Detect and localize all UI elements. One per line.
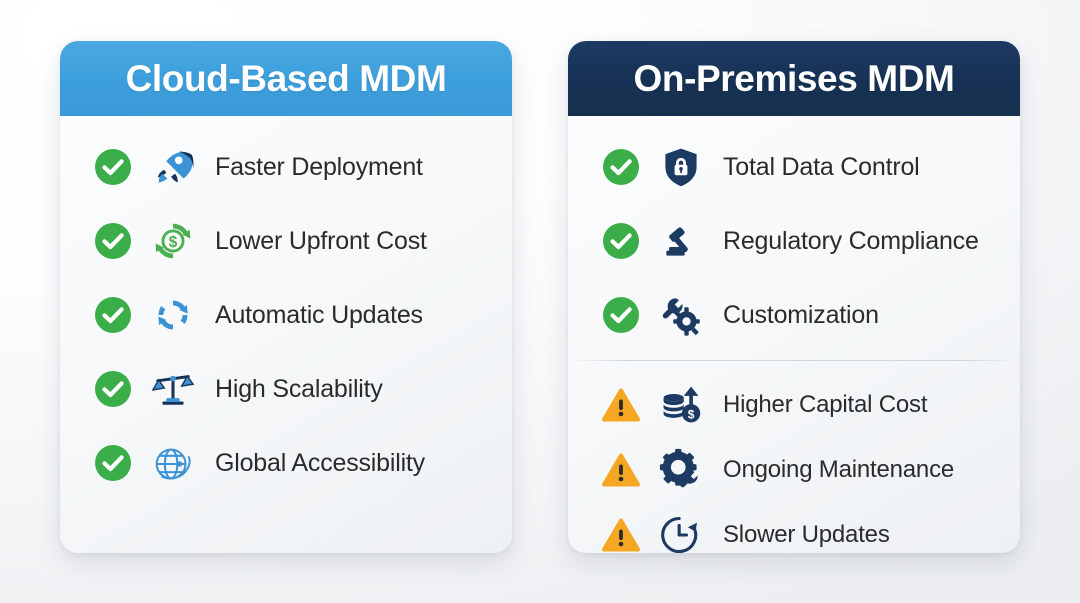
list-item[interactable]: High Scalability [60,352,512,426]
check-icon [90,292,136,338]
pros-group-cloud: Faster Deployment [60,130,512,500]
list-item[interactable]: Faster Deployment [60,130,512,204]
list-item[interactable]: Regulatory Compliance [568,204,1020,278]
check-icon [90,440,136,486]
card-on-premises-mdm: On-Premises MDM [568,41,1020,553]
coin-stack-up-icon: $ [653,382,709,428]
comparison-layout: Cloud-Based MDM [0,0,1080,603]
card-cloud-based-mdm: Cloud-Based MDM [60,41,512,553]
list-item[interactable]: Automatic Updates [60,278,512,352]
list-item-label: Total Data Control [723,153,920,182]
list-item[interactable]: $ Lower Upfront Cost [60,204,512,278]
check-icon [90,218,136,264]
warning-icon [598,512,644,554]
list-item[interactable]: Global Accessibility [60,426,512,500]
wrench-gear-icon [653,292,709,338]
check-icon [598,218,644,264]
list-item-label: Higher Capital Cost [723,391,927,419]
pros-group-onprem: Total Data Control [568,130,1020,352]
gavel-icon [653,218,709,264]
list-item-label: Faster Deployment [215,153,423,182]
list-item[interactable]: Ongoing Maintenance [568,437,1020,502]
rocket-icon [145,144,201,190]
card-body-onprem: Total Data Control [568,116,1020,553]
clock-arrow-icon [653,512,709,554]
list-item[interactable]: Slower Updates [568,502,1020,553]
check-icon [90,144,136,190]
warning-icon [598,447,644,493]
warning-icon [598,382,644,428]
check-icon [598,292,644,338]
money-recycle-icon: $ [145,218,201,264]
list-item[interactable]: Total Data Control [568,130,1020,204]
refresh-arrows-icon [145,292,201,338]
card-header-onprem: On-Premises MDM [568,41,1020,116]
gear-wrench-maintenance-icon [653,447,709,493]
check-icon [90,366,136,412]
list-item[interactable]: $ Higher Capital Cost [568,372,1020,437]
svg-text:$: $ [169,234,178,251]
section-divider [568,360,1020,361]
card-body-cloud: Faster Deployment [60,116,512,553]
list-item-label: Lower Upfront Cost [215,227,427,256]
check-icon [598,144,644,190]
cons-group-onprem: $ Higher Capital Cost [568,372,1020,553]
list-item-label: Global Accessibility [215,449,425,478]
list-item-label: Regulatory Compliance [723,227,979,256]
balance-scales-icon [145,366,201,412]
list-item-label: Slower Updates [723,521,890,549]
list-item-label: Customization [723,301,879,330]
globe-icon [145,440,201,486]
list-item-label: Ongoing Maintenance [723,456,954,484]
shield-lock-icon [653,144,709,190]
list-item-label: Automatic Updates [215,301,423,330]
list-item[interactable]: Customization [568,278,1020,352]
svg-text:$: $ [688,407,695,421]
card-header-cloud: Cloud-Based MDM [60,41,512,116]
list-item-label: High Scalability [215,375,383,404]
